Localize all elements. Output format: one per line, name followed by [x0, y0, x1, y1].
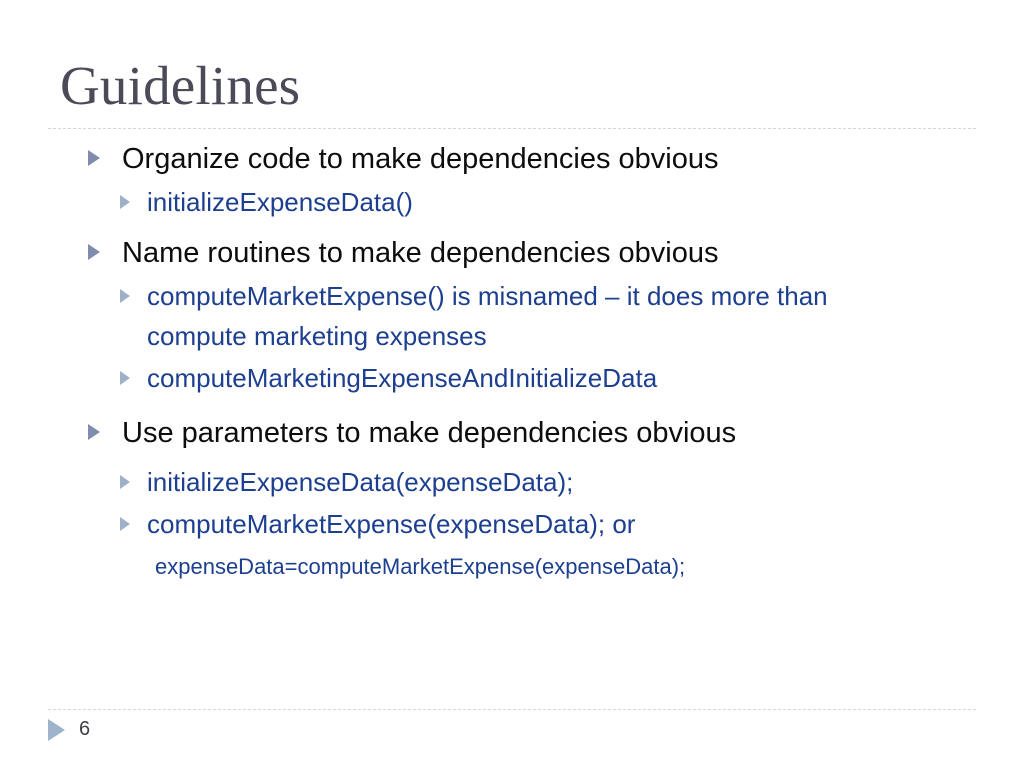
bullet-text: initializeExpenseData(expenseData);: [147, 467, 573, 497]
triangle-right-icon: [120, 371, 130, 385]
page-title: Guidelines: [60, 55, 300, 117]
bullet-text: computeMarketExpense() is misnamed – it …: [147, 281, 828, 351]
bullet-level2: computeMarketExpense() is misnamed – it …: [0, 276, 1024, 356]
triangle-right-icon: [120, 289, 130, 303]
slide-footer: 6: [48, 718, 90, 741]
bullet-level1: Organize code to make dependencies obvio…: [0, 138, 1024, 180]
bullet-text: Use parameters to make dependencies obvi…: [122, 417, 736, 449]
triangle-right-icon: [48, 719, 65, 741]
triangle-right-icon: [120, 195, 130, 209]
slide-body: Organize code to make dependencies obvio…: [0, 134, 1024, 586]
bullet-continuation: expenseData=computeMarketExpense(expense…: [0, 548, 1024, 586]
page-number: 6: [79, 718, 90, 741]
bullet-text: initializeExpenseData(): [147, 187, 413, 217]
bullet-level2: initializeExpenseData(expenseData);: [0, 462, 1024, 502]
bullet-text: computeMarketingExpenseAndInitializeData: [147, 363, 657, 393]
bullet-level2: computeMarketingExpenseAndInitializeData: [0, 358, 1024, 398]
slide-canvas: Guidelines Organize code to make depende…: [0, 0, 1024, 768]
bullet-level1: Use parameters to make dependencies obvi…: [0, 412, 1024, 454]
bullet-text: computeMarketExpense(expenseData); or: [147, 509, 635, 539]
spacer: [0, 398, 1024, 408]
bullet-text: Name routines to make dependencies obvio…: [122, 237, 718, 269]
triangle-right-icon: [120, 475, 130, 489]
triangle-right-icon: [88, 424, 100, 440]
bullet-level1: Name routines to make dependencies obvio…: [0, 232, 1024, 274]
bullet-level2: initializeExpenseData(): [0, 182, 1024, 222]
title-divider: [48, 128, 976, 129]
bullet-text: expenseData=computeMarketExpense(expense…: [155, 554, 685, 579]
footer-divider: [48, 709, 976, 710]
bullet-level2: computeMarketExpense(expenseData); or: [0, 504, 1024, 544]
triangle-right-icon: [120, 517, 130, 531]
spacer: [0, 454, 1024, 460]
bullet-text: Organize code to make dependencies obvio…: [122, 143, 719, 175]
spacer: [0, 222, 1024, 228]
triangle-right-icon: [88, 244, 100, 260]
triangle-right-icon: [88, 150, 100, 166]
